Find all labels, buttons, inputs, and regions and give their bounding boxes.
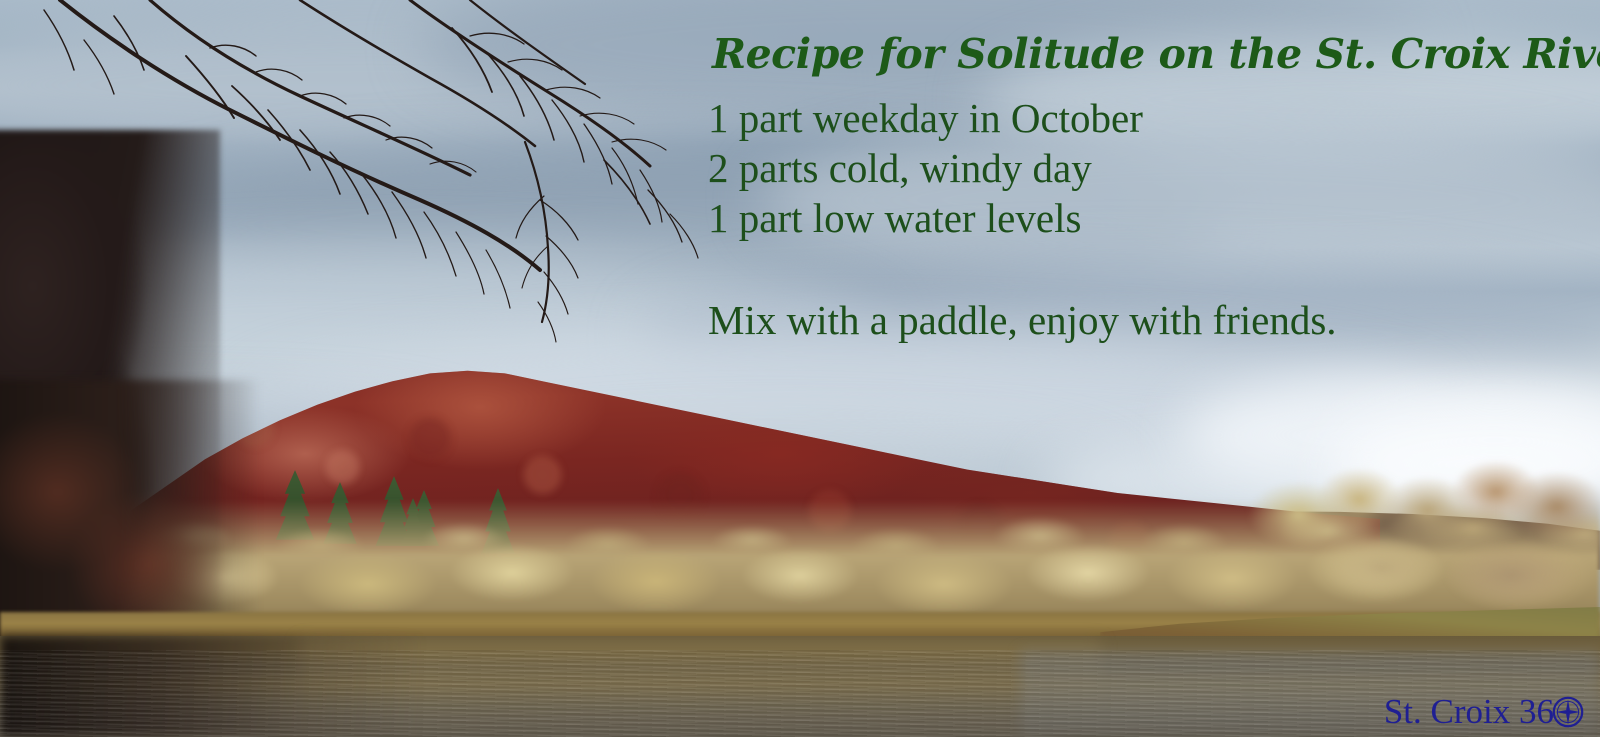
recipe-spacer xyxy=(708,243,1568,295)
ingredient-line-2: 2 parts cold, windy day xyxy=(708,143,1568,193)
recipe-overlay: Recipe for Solitude on the St. Croix Riv… xyxy=(708,34,1568,345)
compass-rose-icon xyxy=(1552,696,1584,728)
recipe-closing-line: Mix with a paddle, enjoy with friends. xyxy=(708,295,1568,345)
water-shadow xyxy=(0,636,420,737)
ingredient-line-1: 1 part weekday in October xyxy=(708,93,1568,143)
ingredient-line-3: 1 part low water levels xyxy=(708,193,1568,243)
photo-scene: Recipe for Solitude on the St. Croix Riv… xyxy=(0,0,1600,737)
recipe-title: Recipe for Solitude on the St. Croix Riv… xyxy=(712,34,1568,75)
watermark: St. Croix 36 xyxy=(1384,694,1584,729)
water-reflection xyxy=(300,640,1100,700)
watermark-text: St. Croix 36 xyxy=(1384,694,1554,729)
